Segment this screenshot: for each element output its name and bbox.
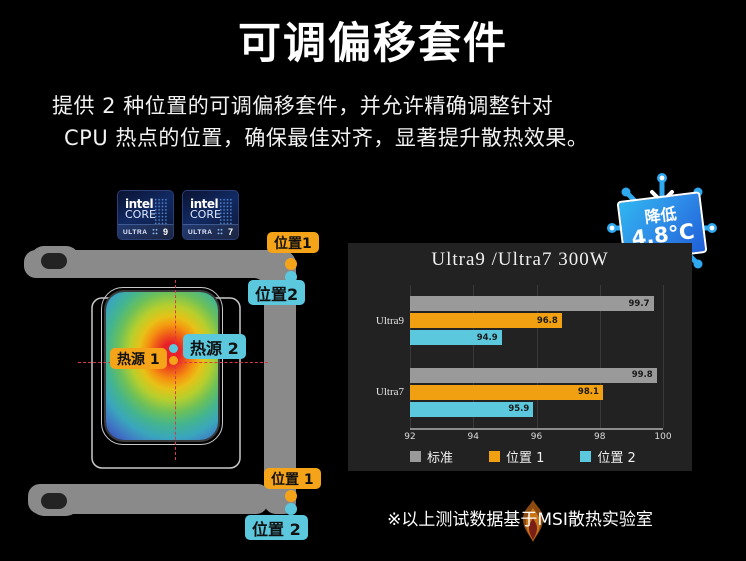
chart-x-tick: 96 (531, 432, 542, 442)
dot-pattern-small-icon (152, 228, 158, 236)
core-wordmark: CORE (125, 208, 156, 221)
heat-source-2-dot (169, 344, 178, 353)
intel-badge-footer: ULTRA 9 (118, 224, 173, 239)
chart-bar: 94.9 (410, 330, 502, 345)
chart-title: Ultra9 /Ultra7 300W (348, 249, 692, 271)
chart-x-tick: 98 (594, 432, 605, 442)
page-title: 可调偏移套件 (0, 18, 746, 70)
chart-group-label: Ultra7 (376, 386, 404, 398)
intel-badge-ultra7: intel CORE ULTRA 7 (182, 190, 239, 240)
dot-pattern-icon (154, 198, 168, 224)
position-2-tag-bottom: 位置 2 (245, 515, 308, 540)
ultra-number: 9 (163, 227, 168, 237)
position-2-dot-bottom (285, 503, 297, 515)
chart-x-tick: 94 (468, 432, 479, 442)
chart-bar: 95.9 (410, 402, 533, 417)
ultra-number: 7 (228, 227, 233, 237)
benchmark-chart: Ultra9 /Ultra7 300W Ultra999.796.894.9Ul… (348, 243, 692, 471)
chart-bar: 96.8 (410, 313, 562, 328)
position-1-tag-bottom: 位置 1 (264, 468, 321, 489)
chart-bar: 99.7 (410, 296, 654, 311)
chart-bar-value: 94.9 (477, 333, 498, 343)
poster-root: 可调偏移套件 提供 2 种位置的可调偏移套件，并允许精确调整针对 CPU 热点的… (0, 0, 746, 561)
core-wordmark: CORE (190, 208, 221, 221)
chart-x-tick: 92 (404, 432, 415, 442)
chart-gridline (663, 285, 664, 428)
chart-x-axis (410, 428, 663, 430)
position-1-dot-top (285, 258, 297, 270)
intel-badge-group: intel CORE ULTRA 9 intel CORE ULTRA 7 (117, 190, 239, 240)
heat-source-1-dot (169, 356, 178, 365)
vertical-center-axis (175, 280, 176, 460)
chart-legend-item[interactable]: 位置 2 (580, 447, 635, 466)
legend-label: 标准 (427, 447, 453, 466)
subtitle-line-2: CPU 热点的位置，确保最佳对齐，显著提升散热效果。 (52, 122, 697, 154)
legend-swatch-icon (410, 451, 421, 462)
chart-legend-item[interactable]: 位置 1 (489, 447, 544, 466)
footer-note: ※以上测试数据基于MSI散热实验室 (350, 505, 690, 530)
dot-pattern-icon (219, 198, 233, 224)
chart-bar: 99.8 (410, 368, 657, 383)
chart-legend: 标准位置 1位置 2 (410, 447, 682, 466)
chart-bar-value: 99.7 (629, 299, 650, 309)
legend-swatch-icon (580, 451, 591, 462)
chart-group: Ultra999.796.894.9 (410, 285, 663, 357)
intel-badge-footer: ULTRA 7 (183, 224, 238, 239)
chart-bar-value: 98.1 (578, 387, 599, 397)
chart-bar-value: 96.8 (537, 316, 558, 326)
heat-source-2-tag: 热源 2 (183, 334, 246, 359)
subtitle-line-1: 提供 2 种位置的可调偏移套件，并允许精确调整针对 (52, 90, 697, 122)
dot-pattern-small-icon (217, 228, 223, 236)
chart-plot-area: Ultra999.796.894.9Ultra799.898.195.9 (410, 285, 663, 428)
ultra-label: ULTRA (123, 229, 148, 236)
page-subtitle: 提供 2 种位置的可调偏移套件，并允许精确调整针对 CPU 热点的位置，确保最佳… (52, 90, 697, 154)
heat-source-1-tag: 热源 1 (110, 348, 167, 369)
chart-group-label: Ultra9 (376, 315, 404, 327)
ultra-label: ULTRA (188, 229, 213, 236)
chart-bar-value: 95.9 (508, 404, 529, 414)
legend-label: 位置 2 (597, 447, 635, 466)
legend-label: 位置 1 (506, 447, 544, 466)
chart-x-tick: 100 (654, 432, 671, 442)
chart-group: Ultra799.898.195.9 (410, 357, 663, 429)
chart-bar-value: 99.8 (632, 370, 653, 380)
position-1-dot-bottom (285, 490, 297, 502)
chart-bar: 98.1 (410, 385, 603, 400)
chart-legend-item[interactable]: 标准 (410, 447, 453, 466)
intel-badge-ultra9: intel CORE ULTRA 9 (117, 190, 174, 240)
position-1-tag-top: 位置1 (267, 232, 319, 253)
legend-swatch-icon (489, 451, 500, 462)
position-2-tag-top: 位置2 (248, 280, 305, 305)
